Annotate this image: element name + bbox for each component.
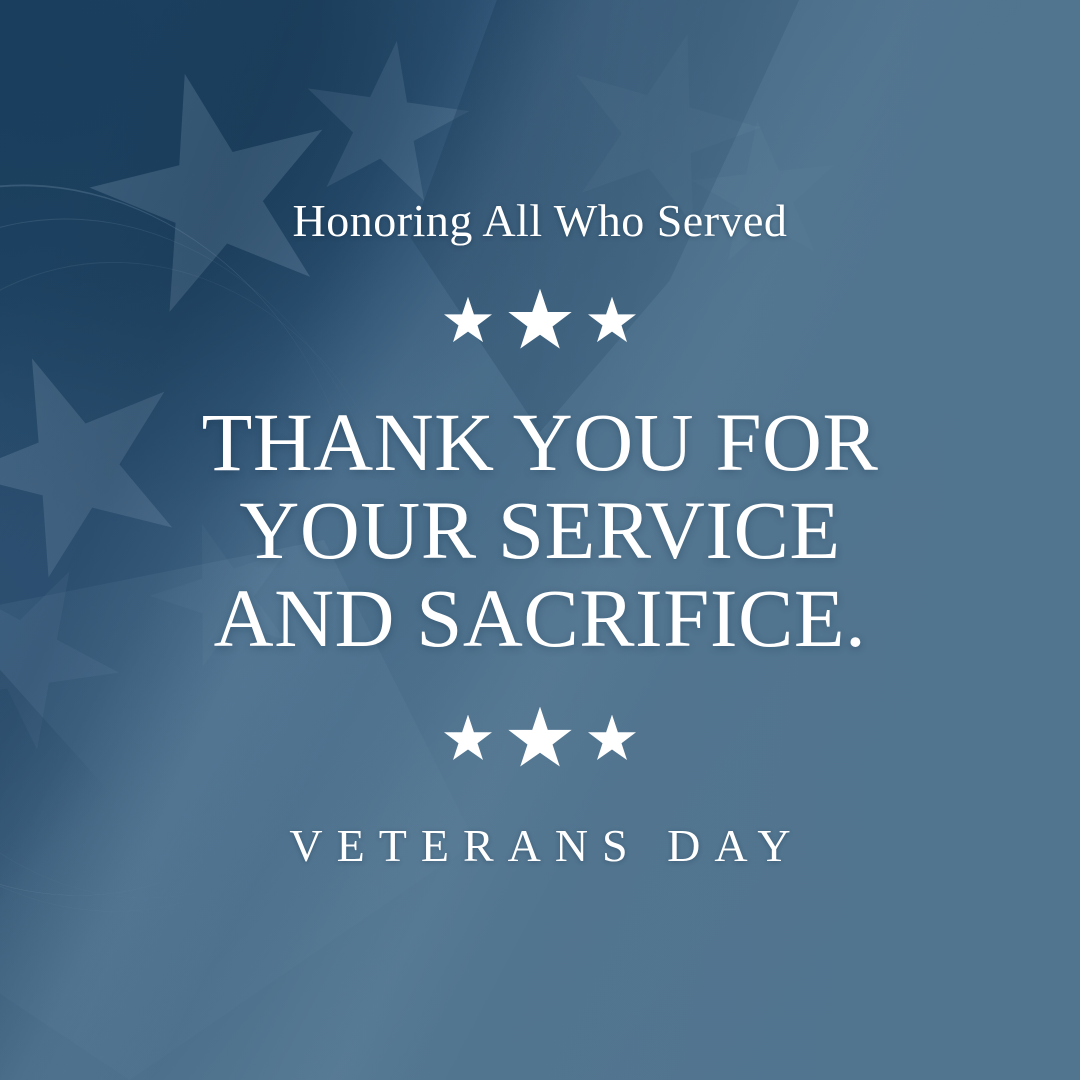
headline-line-1: THANK YOU FOR	[202, 399, 879, 487]
headline-line-3: AND SACRIFICE.	[202, 575, 879, 663]
headline: THANK YOU FOR YOUR SERVICE AND SACRIFICE…	[202, 399, 879, 663]
star-divider-top	[443, 289, 637, 355]
star-icon	[443, 297, 493, 347]
eyebrow-text: Honoring All Who Served	[293, 196, 788, 247]
star-icon	[507, 289, 573, 355]
footer-label: VETERANS DAY	[275, 821, 804, 872]
star-divider-bottom	[443, 707, 637, 773]
star-icon	[507, 707, 573, 773]
star-icon	[587, 297, 637, 347]
headline-line-2: YOUR SERVICE	[202, 487, 879, 575]
poster-content: Honoring All Who Served THANK YOU FOR YO…	[0, 0, 1080, 1080]
veterans-day-poster: Honoring All Who Served THANK YOU FOR YO…	[0, 0, 1080, 1080]
star-icon	[587, 715, 637, 765]
star-icon	[443, 715, 493, 765]
